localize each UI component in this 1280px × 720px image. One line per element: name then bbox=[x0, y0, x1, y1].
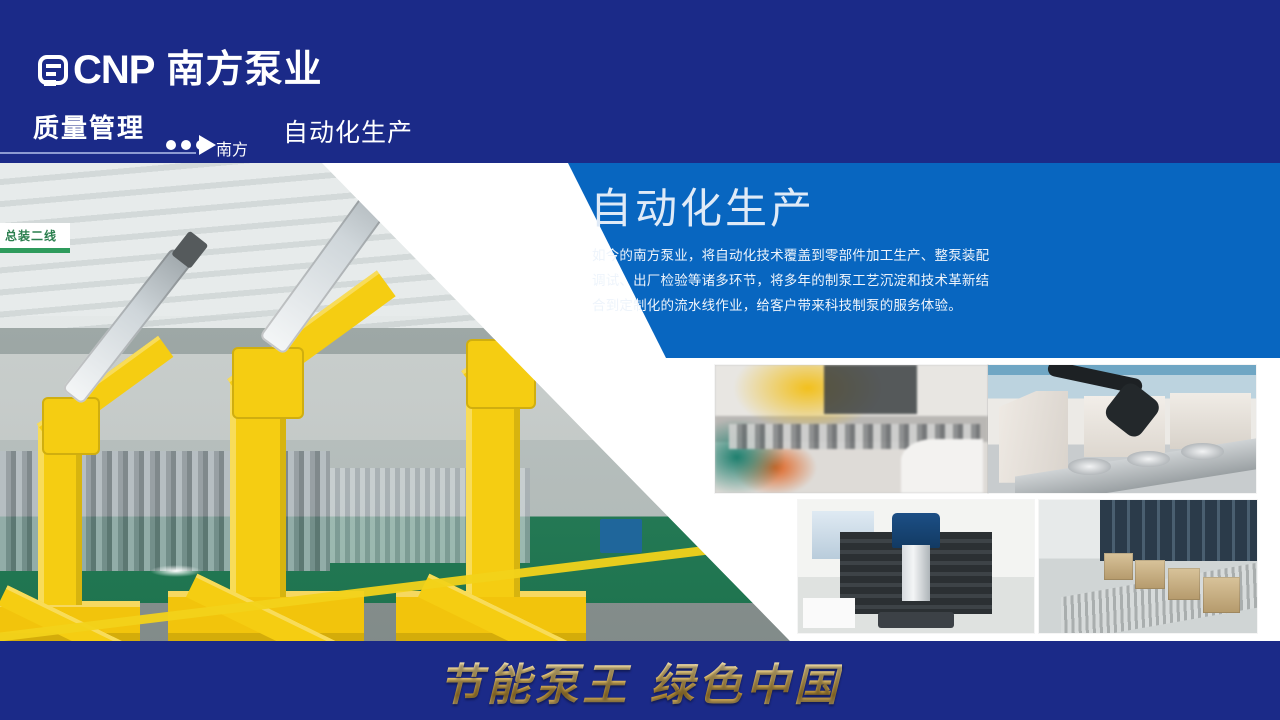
logo-chinese-text: 南方泵业 bbox=[166, 52, 322, 88]
footer-slogan: 节能泵王 绿色中国 bbox=[0, 641, 1280, 720]
slogan-text: 节能泵王 绿色中国 bbox=[438, 649, 841, 713]
page-title: 自动化生产 bbox=[283, 113, 413, 149]
thumbnail-photo-2 bbox=[988, 365, 1256, 493]
triangle-right-icon bbox=[199, 135, 216, 155]
cnp-logo-mark-icon bbox=[38, 55, 68, 85]
thumbnail-photo-1 bbox=[715, 365, 988, 493]
floor-reflection bbox=[150, 565, 202, 577]
robot-arm bbox=[168, 171, 398, 641]
robot-arm bbox=[0, 221, 180, 641]
thumbnail-photo-4 bbox=[1039, 500, 1257, 633]
breadcrumb: 南方 bbox=[216, 136, 248, 160]
section-title: 质量管理 bbox=[33, 108, 145, 145]
thumbnail-photo-3 bbox=[798, 500, 1034, 633]
panel-title: 自动化生产 bbox=[590, 175, 815, 236]
logo-latin-text: CNP bbox=[73, 52, 154, 88]
slide-header: CNP 南方泵业 质量管理 南方 自动化生产 bbox=[0, 0, 1280, 163]
header-rule-divider bbox=[0, 152, 196, 154]
brand-logo[interactable]: CNP 南方泵业 bbox=[38, 52, 322, 88]
panel-body-text: 如今的南方泵业，将自动化技术覆盖到零部件加工生产、整泵装配调试、出厂检验等诸多环… bbox=[592, 243, 992, 318]
slide-canvas: CNP 南方泵业 质量管理 南方 自动化生产 总装二线 bbox=[0, 0, 1280, 720]
